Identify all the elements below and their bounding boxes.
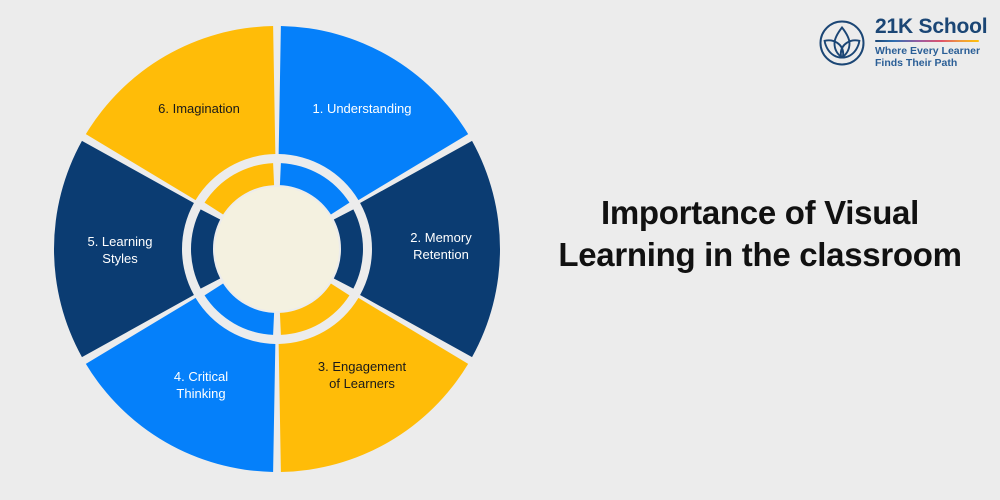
lotus-circle-logo-icon	[818, 19, 866, 67]
logo-tagline-line-2: Finds Their Path	[875, 57, 957, 69]
logo-brand-name: 21K School	[875, 16, 987, 38]
logo-gradient-rule	[875, 40, 979, 43]
page-title-line-2: Learning in the classroom	[540, 234, 980, 276]
slice-label-1: 1. Understanding	[312, 101, 411, 116]
logo-text-block: 21K School Where Every Learner Finds The…	[875, 16, 987, 69]
donut-chart-svg: 1. Understanding2. MemoryRetention3. Eng…	[0, 0, 560, 500]
logo-tagline: Where Every Learner Finds Their Path	[875, 45, 987, 70]
infographic-canvas: 21K School Where Every Learner Finds The…	[0, 0, 1000, 500]
logo-tagline-line-1: Where Every Learner	[875, 45, 980, 57]
donut-chart: 1. Understanding2. MemoryRetention3. Eng…	[0, 0, 560, 500]
center-core-circle	[215, 187, 339, 311]
brand-logo: 21K School Where Every Learner Finds The…	[818, 14, 990, 72]
slice-label-6: 6. Imagination	[158, 101, 240, 116]
page-title: Importance of Visual Learning in the cla…	[540, 192, 980, 276]
page-title-line-1: Importance of Visual	[540, 192, 980, 234]
